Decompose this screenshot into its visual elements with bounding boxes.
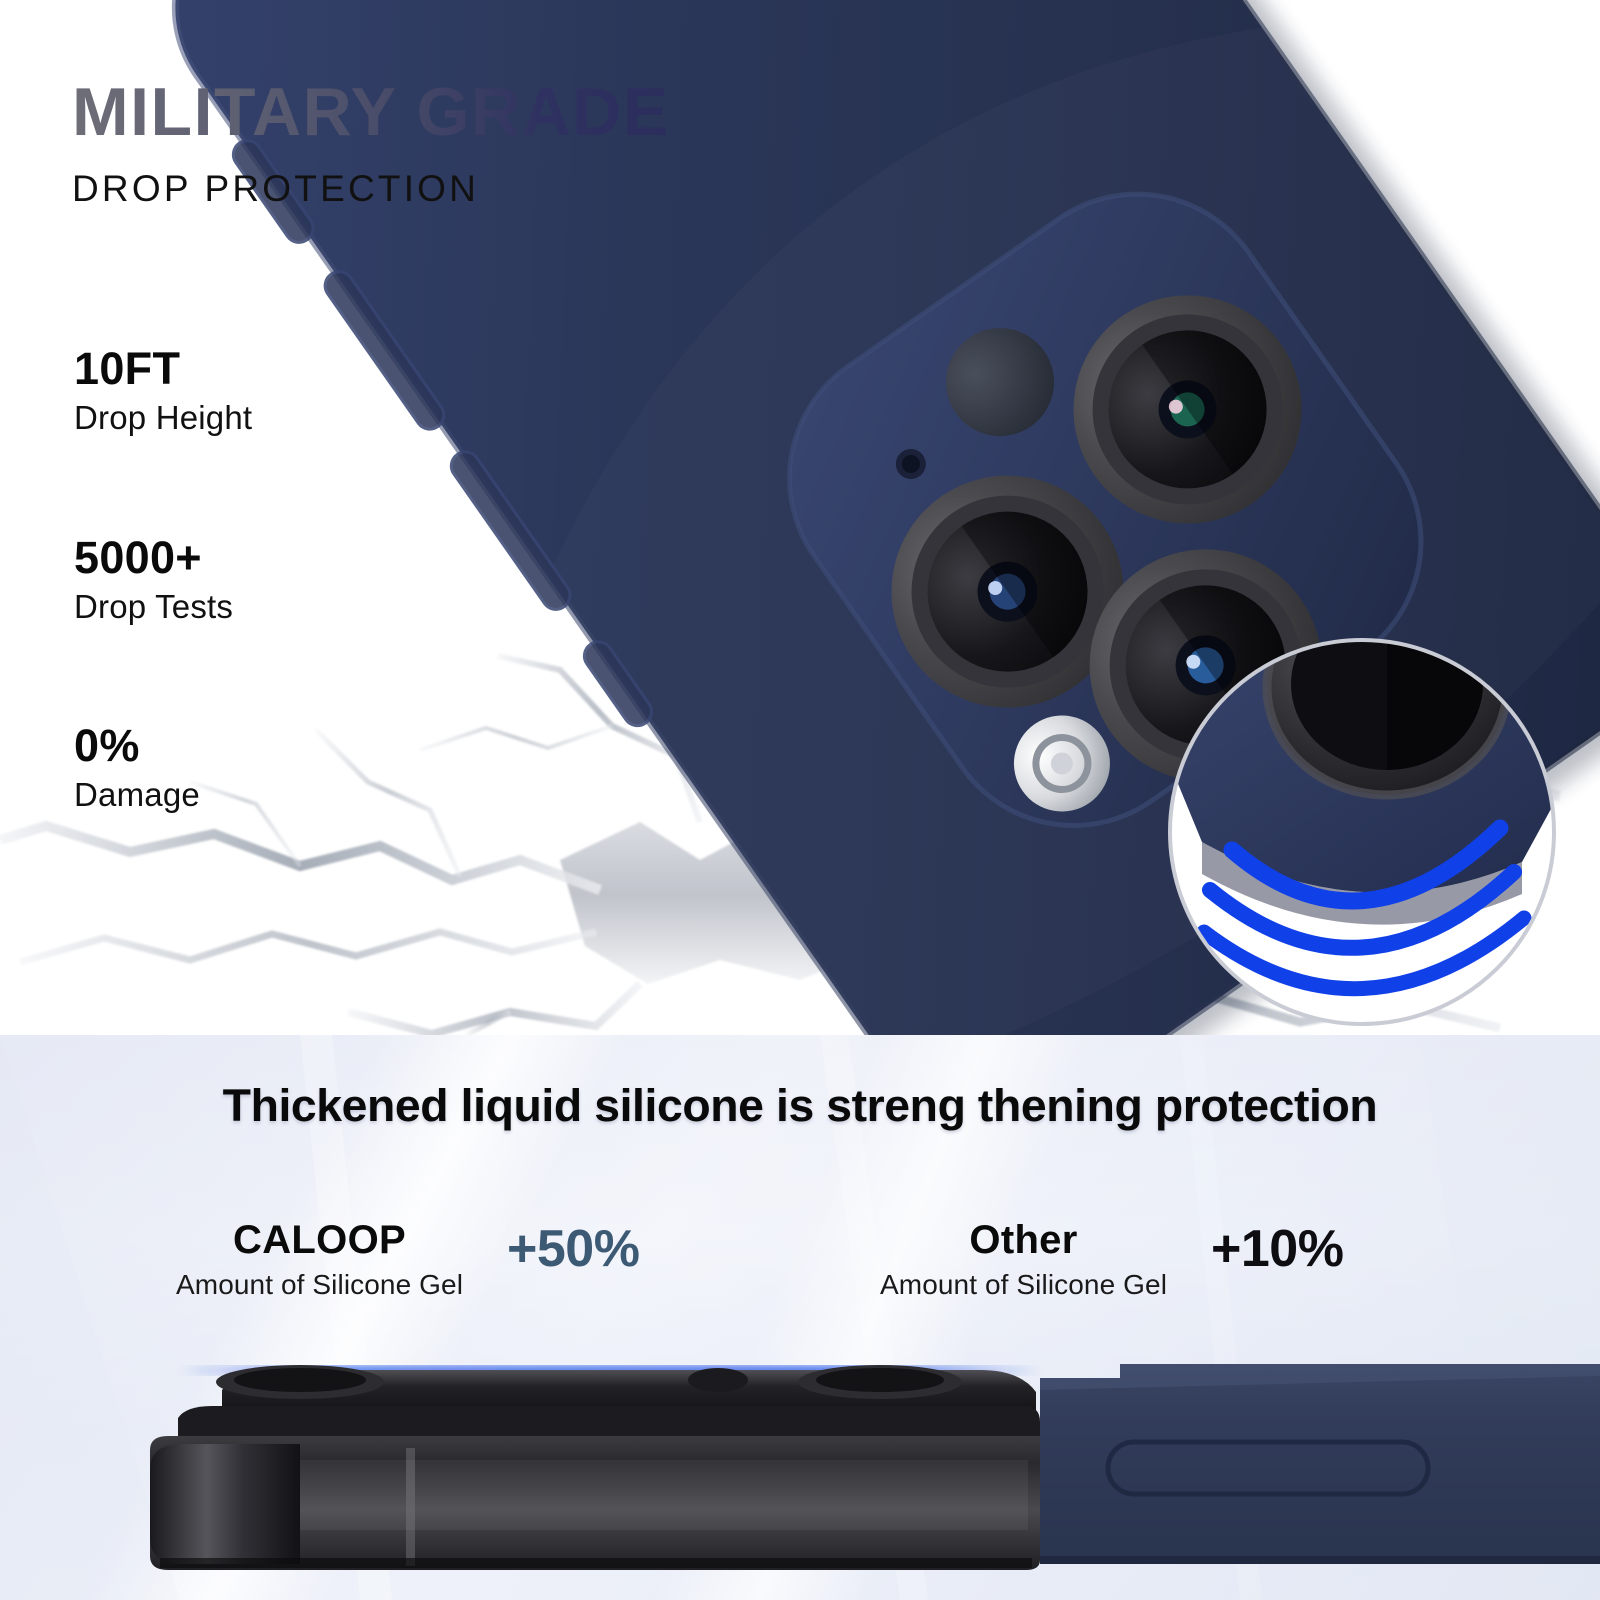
comparison-caption: Amount of Silicone Gel [176, 1268, 463, 1302]
comparison-percent: +50% [507, 1222, 639, 1277]
banner-title: Thickened liquid silicone is streng then… [0, 1080, 1600, 1132]
stat-value: 10FT [74, 345, 404, 392]
stat-label: Damage [74, 774, 404, 815]
comparison-brand: Other [880, 1218, 1167, 1263]
page-title: MILITARY GRADE [72, 78, 670, 146]
stat-label: Drop Height [74, 397, 404, 438]
case-cross-section-photo [0, 1320, 1600, 1600]
page-subtitle: DROP PROTECTION [72, 170, 670, 207]
stat-item: 10FT Drop Height [74, 345, 404, 439]
stat-label: Drop Tests [74, 586, 404, 627]
comparison-percent: +10% [1211, 1222, 1343, 1277]
drop-protection-panel: MILITARY GRADE DROP PROTECTION 10FT Drop… [0, 0, 1600, 1035]
headline-block: MILITARY GRADE DROP PROTECTION [72, 78, 670, 207]
comparison-item-other: Other Amount of Silicone Gel +10% [880, 1218, 1343, 1301]
stat-value: 5000+ [74, 534, 404, 581]
shock-absorption-inset [1162, 632, 1562, 1032]
stat-item: 5000+ Drop Tests [74, 534, 404, 628]
stats-list: 10FT Drop Height 5000+ Drop Tests 0% Dam… [74, 345, 404, 816]
silicone-case-body [1040, 1364, 1600, 1564]
product-infographic: MILITARY GRADE DROP PROTECTION 10FT Drop… [0, 0, 1600, 1600]
stat-item: 0% Damage [74, 722, 404, 816]
comparison-item-caloop: CALOOP Amount of Silicone Gel +50% [176, 1218, 639, 1301]
comparison-brand: CALOOP [176, 1218, 463, 1263]
phone-camera-bump-profile [150, 1365, 1040, 1570]
stat-value: 0% [74, 722, 404, 769]
comparison-row: CALOOP Amount of Silicone Gel +50% Other… [0, 1218, 1600, 1328]
comparison-caption: Amount of Silicone Gel [880, 1268, 1167, 1302]
